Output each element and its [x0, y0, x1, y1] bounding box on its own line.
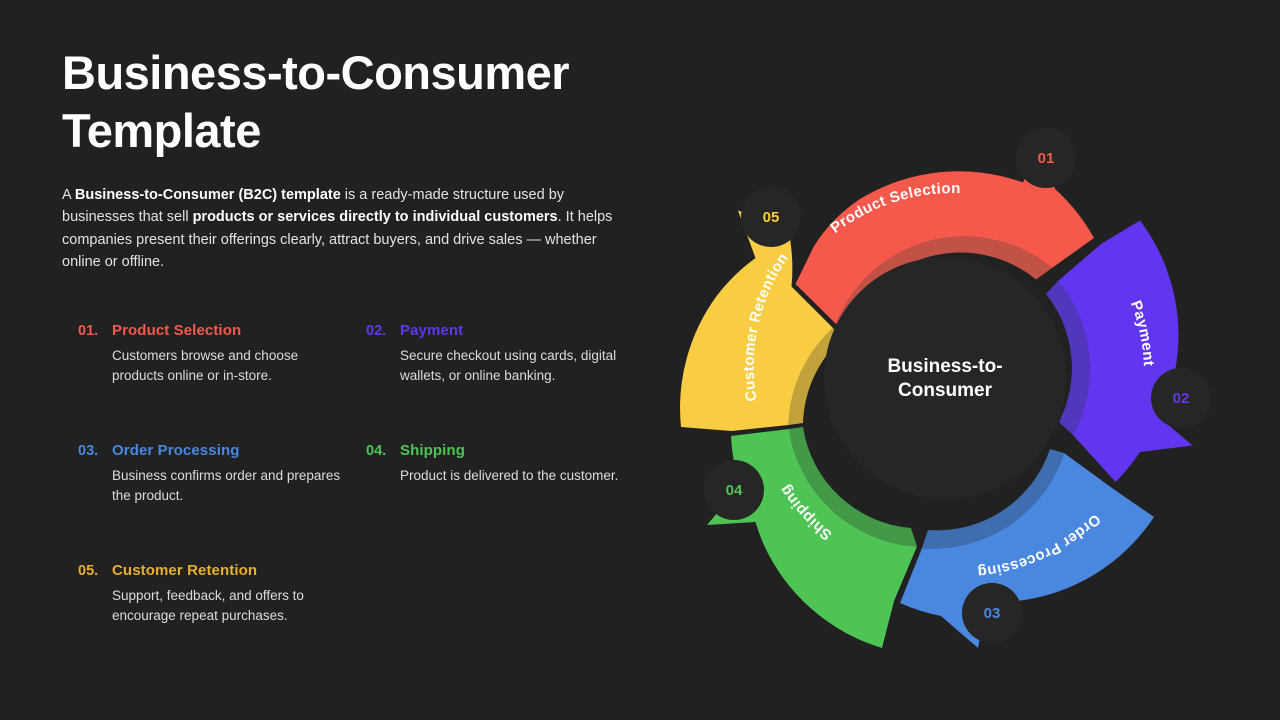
badge-05-label: 05: [763, 209, 780, 226]
step-description: Customers browse and choose products onl…: [112, 346, 344, 386]
step-number: 01.: [78, 323, 104, 339]
step-description: Product is delivered to the customer.: [400, 466, 632, 486]
hub-label-line-1: Business-to-: [887, 356, 1002, 377]
diagram-hub: [824, 257, 1066, 499]
step-item-payment[interactable]: 02. Payment Secure checkout using cards,…: [366, 322, 654, 386]
cycle-diagram: Product Selection Payment Order Processi…: [660, 96, 1240, 656]
step-item-customer-retention[interactable]: 05. Customer Retention Support, feedback…: [78, 562, 366, 626]
step-number: 05.: [78, 563, 104, 579]
badge-01[interactable]: 01: [1016, 128, 1076, 188]
step-title: Payment: [400, 322, 463, 339]
step-item-order-processing[interactable]: 03. Order Processing Business confirms o…: [78, 442, 366, 506]
hub-label-line-2: Consumer: [898, 380, 993, 401]
step-header: 05. Customer Retention: [78, 562, 366, 579]
intro-bold-2: products or services directly to individ…: [193, 209, 558, 225]
step-header: 03. Order Processing: [78, 442, 366, 459]
step-header: 02. Payment: [366, 322, 654, 339]
intro-bold-1: Business-to-Consumer (B2C) template: [75, 187, 341, 203]
slide-root: Business-to-Consumer Template A Business…: [0, 0, 1280, 720]
step-description: Business confirms order and prepares the…: [112, 466, 344, 506]
step-description: Support, feedback, and offers to encoura…: [112, 586, 344, 626]
segment-payment[interactable]: Payment: [1046, 221, 1193, 483]
step-title: Customer Retention: [112, 562, 257, 579]
badge-02-label: 02: [1173, 390, 1190, 407]
page-title: Business-to-Consumer Template: [62, 44, 662, 160]
badge-02[interactable]: 02: [1151, 368, 1211, 428]
step-description: Secure checkout using cards, digital wal…: [400, 346, 632, 386]
intro-part-1: A: [62, 187, 75, 203]
badge-03-label: 03: [984, 605, 1001, 622]
badge-04[interactable]: 04: [704, 460, 764, 520]
step-item-product-selection[interactable]: 01. Product Selection Customers browse a…: [78, 322, 366, 386]
step-number: 04.: [366, 443, 392, 459]
step-header: 04. Shipping: [366, 442, 654, 459]
step-title: Product Selection: [112, 322, 241, 339]
cycle-diagram-svg: Product Selection Payment Order Processi…: [660, 96, 1240, 656]
step-title: Shipping: [400, 442, 465, 459]
badge-05[interactable]: 05: [741, 187, 801, 247]
intro-paragraph: A Business-to-Consumer (B2C) template is…: [62, 184, 627, 274]
step-title: Order Processing: [112, 442, 239, 459]
badge-04-label: 04: [726, 482, 743, 499]
step-item-shipping[interactable]: 04. Shipping Product is delivered to the…: [366, 442, 654, 506]
step-header: 01. Product Selection: [78, 322, 366, 339]
step-list: 01. Product Selection Customers browse a…: [78, 322, 658, 626]
left-column: Business-to-Consumer Template A Business…: [62, 44, 662, 274]
step-number: 02.: [366, 323, 392, 339]
badge-01-label: 01: [1038, 150, 1055, 167]
step-number: 03.: [78, 443, 104, 459]
badge-03[interactable]: 03: [962, 583, 1022, 643]
